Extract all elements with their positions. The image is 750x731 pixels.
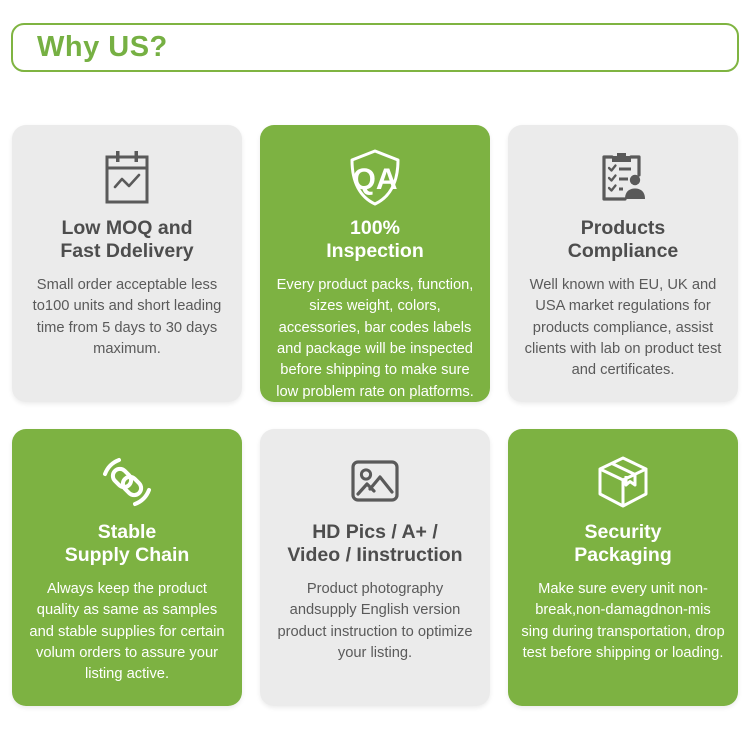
header-banner: Why US? [11,23,739,72]
card-title: Stable Supply Chain [65,521,190,567]
card-body: Product photography andsupply English ve… [270,579,480,665]
page-title: Why US? [37,33,168,62]
package-box-icon [595,453,651,511]
qa-shield-icon: QA [346,149,404,207]
card-body: Make sure every unit non-break,non-damag… [518,579,728,665]
card-title: Products Compliance [568,217,679,263]
feature-card-low-moq[interactable]: Low MOQ and Fast Ddelivery Small order a… [12,125,242,402]
card-title: Security Packaging [574,521,672,567]
feature-card-inspection[interactable]: QA 100% Inspection Every product packs, … [260,125,490,402]
card-body: Always keep the product quality as same … [22,579,232,686]
card-body: Every product packs, function, sizes wei… [270,275,480,402]
feature-card-hd-pics[interactable]: HD Pics / A+ / Video / Iinstruction Prod… [260,429,490,706]
card-title: 100% Inspection [326,217,424,263]
card-body: Well known with EU, UK and USA market re… [518,275,728,382]
feature-card-compliance[interactable]: Products Compliance Well known with EU, … [508,125,738,402]
image-photo-icon [347,453,403,511]
clipboard-checklist-icon [595,149,651,207]
calendar-chart-icon [100,149,154,207]
card-title: HD Pics / A+ / Video / Iinstruction [287,521,462,567]
feature-card-supply-chain[interactable]: Stable Supply Chain Always keep the prod… [12,429,242,706]
feature-card-security-packaging[interactable]: Security Packaging Make sure every unit … [508,429,738,706]
chain-link-icon [99,453,155,511]
feature-card-grid: Low MOQ and Fast Ddelivery Small order a… [12,125,738,706]
card-body: Small order acceptable less to100 units … [22,275,232,361]
card-title: Low MOQ and Fast Ddelivery [60,217,193,263]
svg-text:QA: QA [353,163,398,196]
why-us-section: Why US? Low MOQ and Fast Ddelivery Small… [0,0,750,731]
